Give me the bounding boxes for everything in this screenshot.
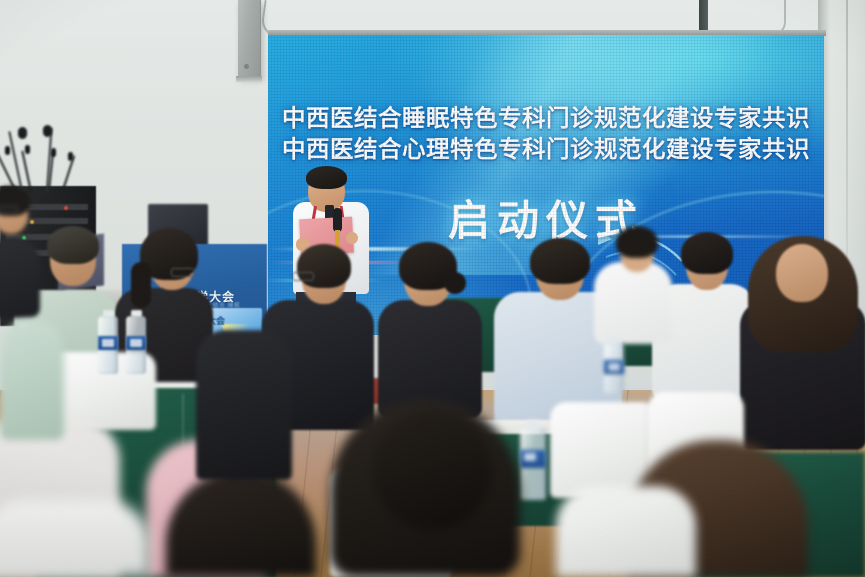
conference-photo-scene: 中西医结合睡眠特色专科门诊规范化建设专家共识 中西医结合心理特色专科门诊规范化建… [0,0,865,577]
hair-bun [444,272,466,294]
ponytail [131,262,151,308]
presenter-hair [306,166,347,189]
wall-speaker-icon [238,0,261,78]
glasses-icon [0,206,18,213]
microphone-icon [333,208,342,232]
glasses-icon [171,268,195,277]
glasses-icon [292,272,314,281]
wall-speaker-bracket [236,76,262,82]
microphone-icon [18,127,27,139]
wall-seam [846,0,848,300]
microphone-icon [43,125,52,137]
presenter-hand [346,232,358,244]
attendee-hair [47,226,99,264]
